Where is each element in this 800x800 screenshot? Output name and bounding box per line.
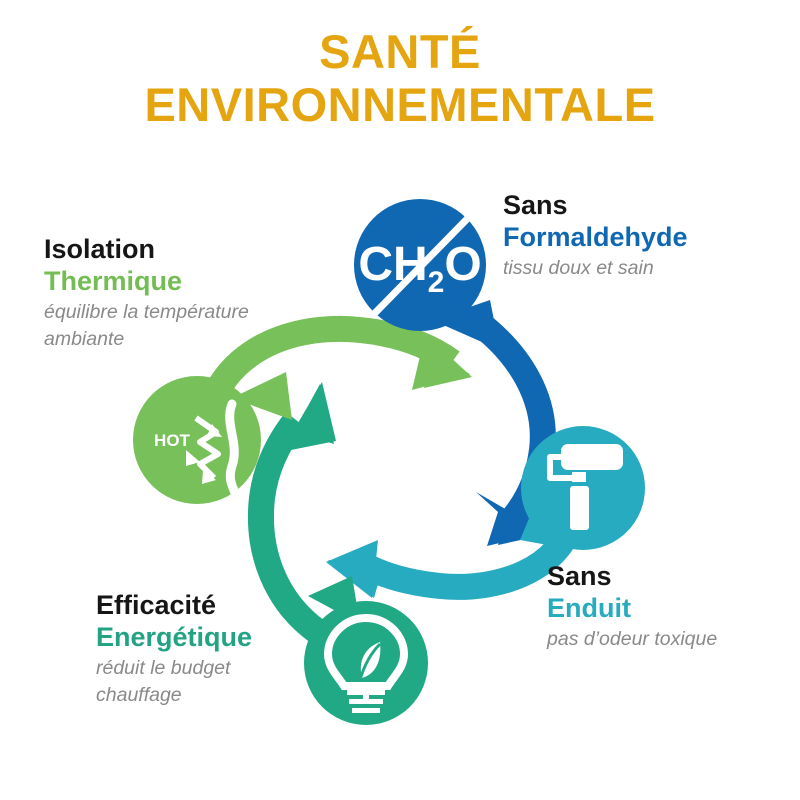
- callout-isolation-line2: Thermique: [44, 265, 249, 297]
- callout-enduit-line2: Enduit: [547, 592, 717, 624]
- callout-efficacite-sub1: réduit le budget: [96, 654, 252, 681]
- callout-enduit-line1: Sans: [547, 561, 717, 592]
- node-enduit[interactable]: [520, 426, 645, 550]
- callout-isolation-line1: Isolation: [44, 234, 249, 265]
- callout-formaldehyde: Sans Formaldehyde tissu doux et sain: [503, 190, 688, 281]
- callout-formaldehyde-sub1: tissu doux et sain: [503, 254, 688, 281]
- callout-efficacite-sub2: chauffage: [96, 681, 252, 708]
- callout-isolation-sub2: ambiante: [44, 325, 249, 352]
- callout-isolation: Isolation Thermique équilibre la tempéra…: [44, 234, 249, 352]
- formaldehyde-formula: CH2O: [358, 238, 481, 299]
- hot-label: HOT: [154, 431, 191, 450]
- callout-isolation-sub1: équilibre la température: [44, 298, 249, 325]
- formula-ch: CH: [358, 238, 427, 291]
- node-efficacite[interactable]: [304, 576, 428, 725]
- callout-enduit-sub1: pas d’odeur toxique: [547, 625, 717, 652]
- callout-efficacite-line2: Energétique: [96, 621, 252, 653]
- svg-text:CH2O: CH2O: [358, 238, 481, 299]
- callout-formaldehyde-line1: Sans: [503, 190, 688, 221]
- callout-efficacite: Efficacité Energétique réduit le budget …: [96, 590, 252, 708]
- formula-sub-2: 2: [428, 266, 445, 299]
- callout-efficacite-line1: Efficacité: [96, 590, 252, 621]
- callout-formaldehyde-line2: Formaldehyde: [503, 221, 688, 253]
- callout-enduit: Sans Enduit pas d’odeur toxique: [547, 561, 717, 652]
- formula-o: O: [444, 238, 481, 291]
